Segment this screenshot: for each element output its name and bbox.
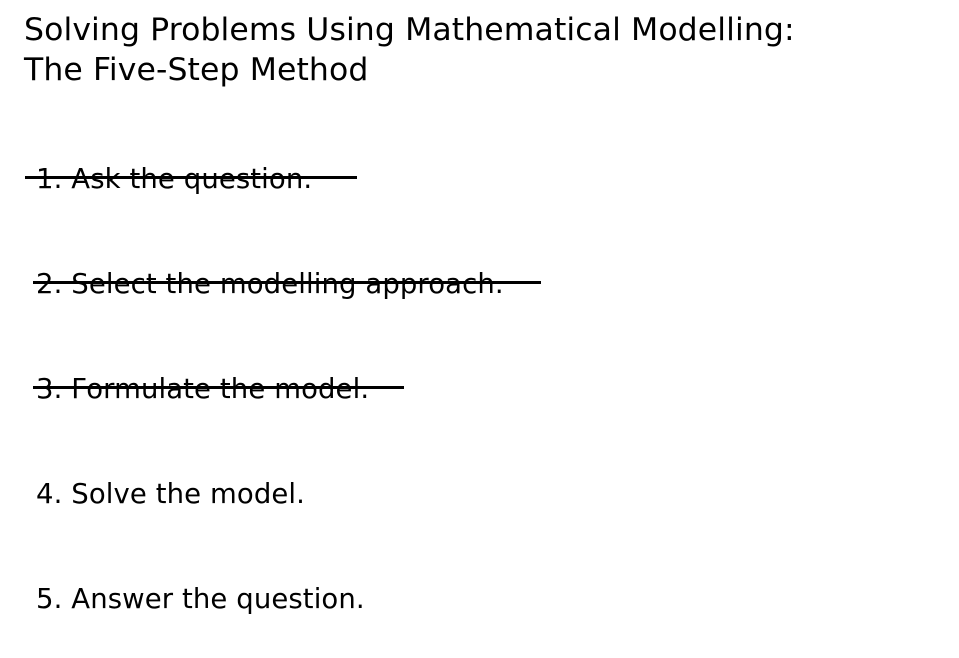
- list-item: 3. Formulate the model.: [36, 372, 369, 406]
- step-1-label: 1. Ask the question.: [36, 162, 312, 196]
- list-item: 5. Answer the question.: [36, 582, 365, 616]
- list-item: 1. Ask the question.: [36, 162, 312, 196]
- list-item: 4. Solve the model.: [36, 477, 305, 511]
- list-item: 2. Select the modelling approach.: [36, 267, 504, 301]
- step-3-label: 3. Formulate the model.: [36, 372, 369, 406]
- five-step-method-list: 1. Ask the question. 2. Select the model…: [0, 0, 959, 658]
- step-2-label: 2. Select the modelling approach.: [36, 267, 504, 301]
- step-5-label: 5. Answer the question.: [36, 582, 365, 616]
- step-4-label: 4. Solve the model.: [36, 477, 305, 511]
- slide-canvas: Solving Problems Using Mathematical Mode…: [0, 0, 959, 658]
